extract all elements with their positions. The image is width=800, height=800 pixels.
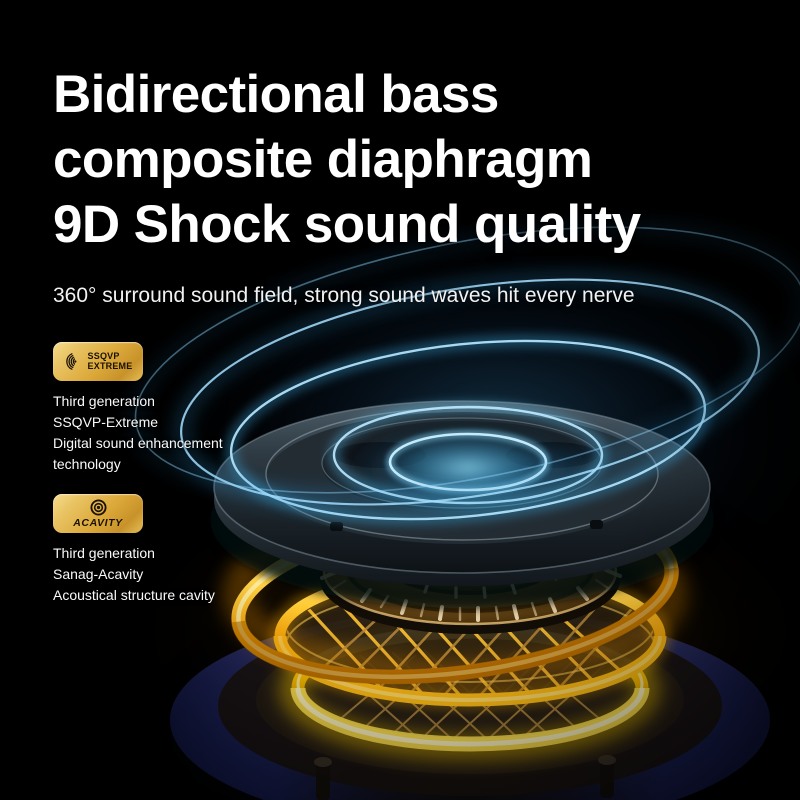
- composite-diaphragm-disc: [210, 401, 714, 608]
- feature-acavity-desc-line-2: Sanag-Acavity: [53, 564, 215, 585]
- badge-acavity-label: ACAVITY: [73, 517, 123, 529]
- badge-acavity: ACAVITY: [53, 494, 143, 533]
- speaker-basket: [170, 610, 770, 800]
- badge-ssqvp-line-2: EXTREME: [88, 362, 133, 372]
- feature-ssqvp-description: Third generation SSQVP-Extreme Digital s…: [53, 391, 223, 475]
- feature-ssqvp-desc-line-4: technology: [53, 454, 223, 475]
- feature-acavity-desc-line-3: Acoustical structure cavity: [53, 585, 215, 606]
- amber-ambient-glow: [60, 420, 800, 800]
- feature-acavity-description: Third generation Sanag-Acavity Acoustica…: [53, 543, 215, 606]
- acoustic-mesh-cage: [280, 562, 660, 708]
- feature-ssqvp-desc-line-2: SSQVP-Extreme: [53, 412, 223, 433]
- headline-line-1: Bidirectional bass: [53, 62, 753, 127]
- driver-turbine-core: [320, 520, 620, 634]
- feature-block-ssqvp: SSQVP EXTREME Third generation SSQVP-Ext…: [53, 342, 223, 475]
- sound-wave-spiral-icon: [64, 351, 85, 372]
- subtitle: 360° surround sound field, strong sound …: [53, 283, 635, 309]
- headline-line-2: composite diaphragm: [53, 127, 753, 192]
- feature-ssqvp-desc-line-1: Third generation: [53, 391, 223, 412]
- target-bullseye-icon: [90, 499, 107, 516]
- lower-glow-ring: [292, 628, 648, 748]
- feature-acavity-desc-line-1: Third generation: [53, 543, 215, 564]
- gold-torus-ring: [229, 491, 681, 699]
- hero-banner: Bidirectional bass composite diaphragm 9…: [0, 0, 800, 800]
- feature-ssqvp-desc-line-3: Digital sound enhancement: [53, 433, 223, 454]
- page-title: Bidirectional bass composite diaphragm 9…: [53, 62, 753, 257]
- blue-base-glow: [90, 600, 730, 800]
- badge-ssqvp-text: SSQVP EXTREME: [88, 352, 133, 371]
- badge-ssqvp-extreme: SSQVP EXTREME: [53, 342, 143, 381]
- feature-block-acavity: ACAVITY Third generation Sanag-Acavity A…: [53, 494, 215, 606]
- headline-line-3: 9D Shock sound quality: [53, 192, 753, 257]
